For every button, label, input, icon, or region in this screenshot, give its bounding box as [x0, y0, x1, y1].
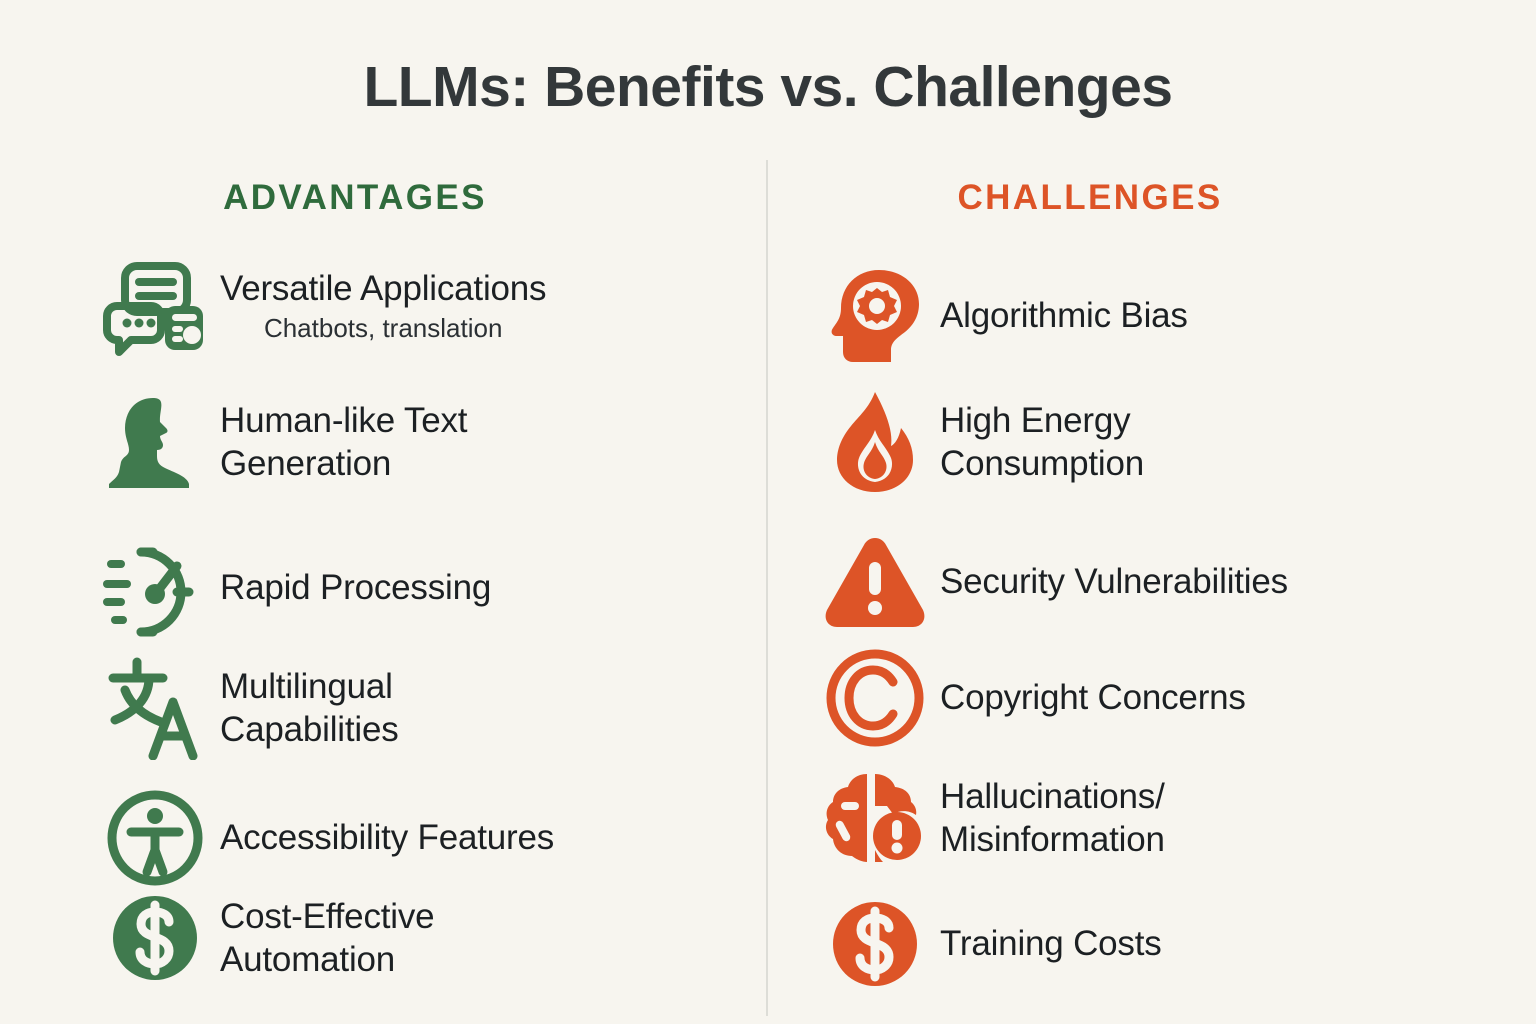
dollar-circle-icon: [810, 892, 940, 996]
item-text: Cost-Effective Automation: [220, 895, 434, 982]
copyright-icon: [810, 646, 940, 750]
head-gear-icon: [810, 264, 940, 368]
translate-icon: [90, 656, 220, 760]
advantages-header: ADVANTAGES: [90, 178, 750, 218]
list-item: Multilingual Capabilities: [90, 656, 750, 760]
item-text: Multilingual Capabilities: [220, 665, 399, 752]
item-text: Training Costs: [940, 922, 1162, 965]
item-text: High Energy Consumption: [940, 399, 1144, 486]
list-item: Hallucinations/ Misinformation: [810, 766, 1470, 870]
column-divider: [766, 160, 768, 1016]
list-item: Human-like Text Generation: [90, 390, 750, 494]
item-label: Hallucinations/ Misinformation: [940, 775, 1165, 862]
list-item: Security Vulnerabilities: [810, 530, 1470, 634]
item-label: Cost-Effective Automation: [220, 895, 434, 982]
item-label: Multilingual Capabilities: [220, 665, 399, 752]
item-text: Accessibility Features: [220, 816, 554, 859]
item-sublabel: Chatbots, translation: [264, 312, 502, 345]
list-item: High Energy Consumption: [810, 390, 1470, 494]
dollar-circle-icon: [90, 886, 220, 990]
chat-bubbles-icon: [90, 254, 220, 358]
item-label: Security Vulnerabilities: [940, 560, 1288, 603]
brain-alert-icon: [810, 766, 940, 870]
head-silhouette-icon: [90, 390, 220, 494]
item-text: Versatile Applications Chatbots, transla…: [220, 267, 546, 345]
speedometer-icon: [90, 536, 220, 640]
item-label: Copyright Concerns: [940, 676, 1246, 719]
item-text: Security Vulnerabilities: [940, 560, 1288, 603]
item-text: Copyright Concerns: [940, 676, 1246, 719]
flame-icon: [810, 390, 940, 494]
item-label: Human-like Text Generation: [220, 399, 467, 486]
item-label: Versatile Applications: [220, 267, 546, 310]
list-item: Cost-Effective Automation: [90, 886, 750, 990]
list-item: Copyright Concerns: [810, 646, 1470, 750]
list-item: Rapid Processing: [90, 536, 750, 640]
infographic-canvas: LLMs: Benefits vs. Challenges ADVANTAGES: [0, 0, 1536, 1024]
page-title: LLMs: Benefits vs. Challenges: [0, 56, 1536, 119]
item-text: Human-like Text Generation: [220, 399, 467, 486]
item-label: Accessibility Features: [220, 816, 554, 859]
item-label: Training Costs: [940, 922, 1162, 965]
list-item: Versatile Applications Chatbots, transla…: [90, 254, 750, 358]
item-text: Hallucinations/ Misinformation: [940, 775, 1165, 862]
list-item: Accessibility Features: [90, 786, 750, 890]
item-label: Algorithmic Bias: [940, 294, 1188, 337]
accessibility-icon: [90, 786, 220, 890]
item-text: Rapid Processing: [220, 566, 491, 609]
challenges-header: CHALLENGES: [810, 178, 1470, 218]
item-label: Rapid Processing: [220, 566, 491, 609]
item-label: High Energy Consumption: [940, 399, 1144, 486]
warning-triangle-icon: [810, 530, 940, 634]
item-text: Algorithmic Bias: [940, 294, 1188, 337]
list-item: Training Costs: [810, 892, 1470, 996]
list-item: Algorithmic Bias: [810, 264, 1470, 368]
challenges-column: CHALLENGES Algorithmic Bias: [810, 178, 1470, 270]
advantages-column: ADVANTAGES: [90, 178, 750, 270]
